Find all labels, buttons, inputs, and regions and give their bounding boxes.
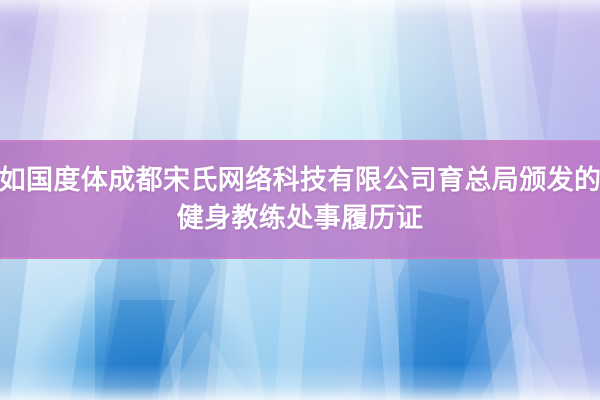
band-bottom-edge — [0, 257, 600, 259]
band-top-edge — [0, 140, 600, 142]
headline-line-1: 如国度体成都宋氏网络科技有限公司育总局颁发的 — [0, 164, 600, 198]
purple-text-band: 如国度体成都宋氏网络科技有限公司育总局颁发的 健身教练处事履历证 — [0, 140, 600, 259]
promo-banner: 如国度体成都宋氏网络科技有限公司育总局颁发的 健身教练处事履历证 — [0, 0, 600, 400]
headline-line-2: 健身教练处事履历证 — [177, 202, 424, 236]
